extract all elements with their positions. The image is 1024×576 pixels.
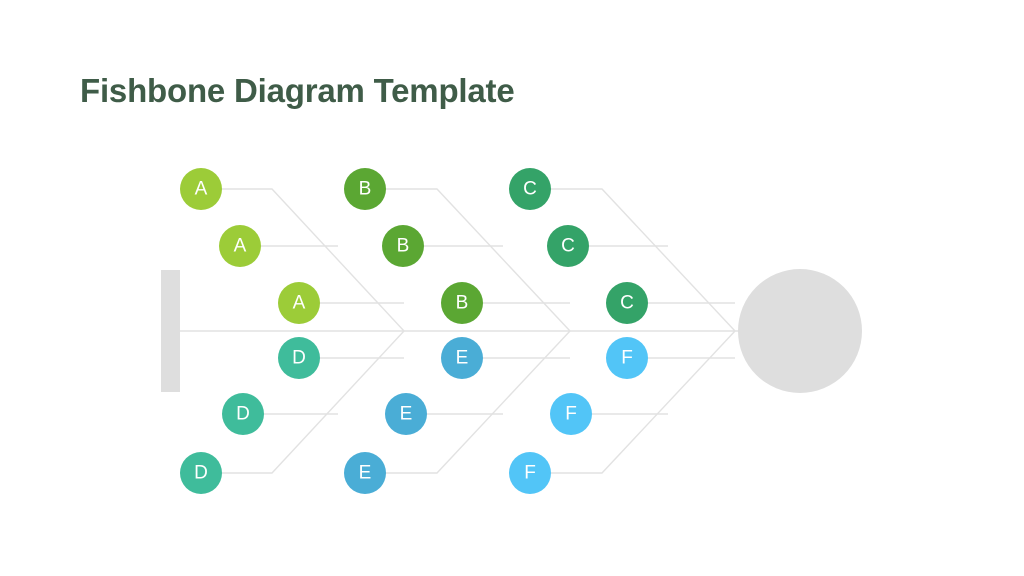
node-d-1[interactable]: D — [278, 337, 320, 379]
node-c-3[interactable]: C — [606, 282, 648, 324]
node-d-1-label: D — [292, 348, 306, 367]
node-c-3-label: C — [620, 293, 634, 312]
node-e-3[interactable]: E — [344, 452, 386, 494]
node-d-3[interactable]: D — [180, 452, 222, 494]
node-a-2[interactable]: A — [219, 225, 261, 267]
node-e-2-label: E — [400, 404, 413, 423]
node-a-3[interactable]: A — [278, 282, 320, 324]
node-d-3-label: D — [194, 463, 208, 482]
node-f-1-label: F — [621, 348, 633, 367]
node-a-1[interactable]: A — [180, 168, 222, 210]
node-d-2-label: D — [236, 404, 250, 423]
node-e-1-label: E — [456, 348, 469, 367]
node-b-2[interactable]: B — [382, 225, 424, 267]
node-e-3-label: E — [359, 463, 372, 482]
node-c-1[interactable]: C — [509, 168, 551, 210]
node-b-2-label: B — [397, 236, 410, 255]
node-a-1-label: A — [195, 179, 208, 198]
node-c-2[interactable]: C — [547, 225, 589, 267]
node-f-3-label: F — [524, 463, 536, 482]
node-e-2[interactable]: E — [385, 393, 427, 435]
node-f-1[interactable]: F — [606, 337, 648, 379]
node-b-3[interactable]: B — [441, 282, 483, 324]
node-d-2[interactable]: D — [222, 393, 264, 435]
node-b-1-label: B — [359, 179, 372, 198]
node-b-3-label: B — [456, 293, 469, 312]
fishbone-diagram — [0, 0, 1024, 576]
node-f-3[interactable]: F — [509, 452, 551, 494]
node-c-1-label: C — [523, 179, 537, 198]
slide-canvas: Fishbone Diagram Template AAABBBCCCDDDEE… — [0, 0, 1024, 576]
node-e-1[interactable]: E — [441, 337, 483, 379]
node-a-2-label: A — [234, 236, 247, 255]
tail-bar — [161, 270, 180, 392]
node-f-2-label: F — [565, 404, 577, 423]
node-c-2-label: C — [561, 236, 575, 255]
node-f-2[interactable]: F — [550, 393, 592, 435]
node-a-3-label: A — [293, 293, 306, 312]
head-circle[interactable] — [738, 269, 862, 393]
node-b-1[interactable]: B — [344, 168, 386, 210]
